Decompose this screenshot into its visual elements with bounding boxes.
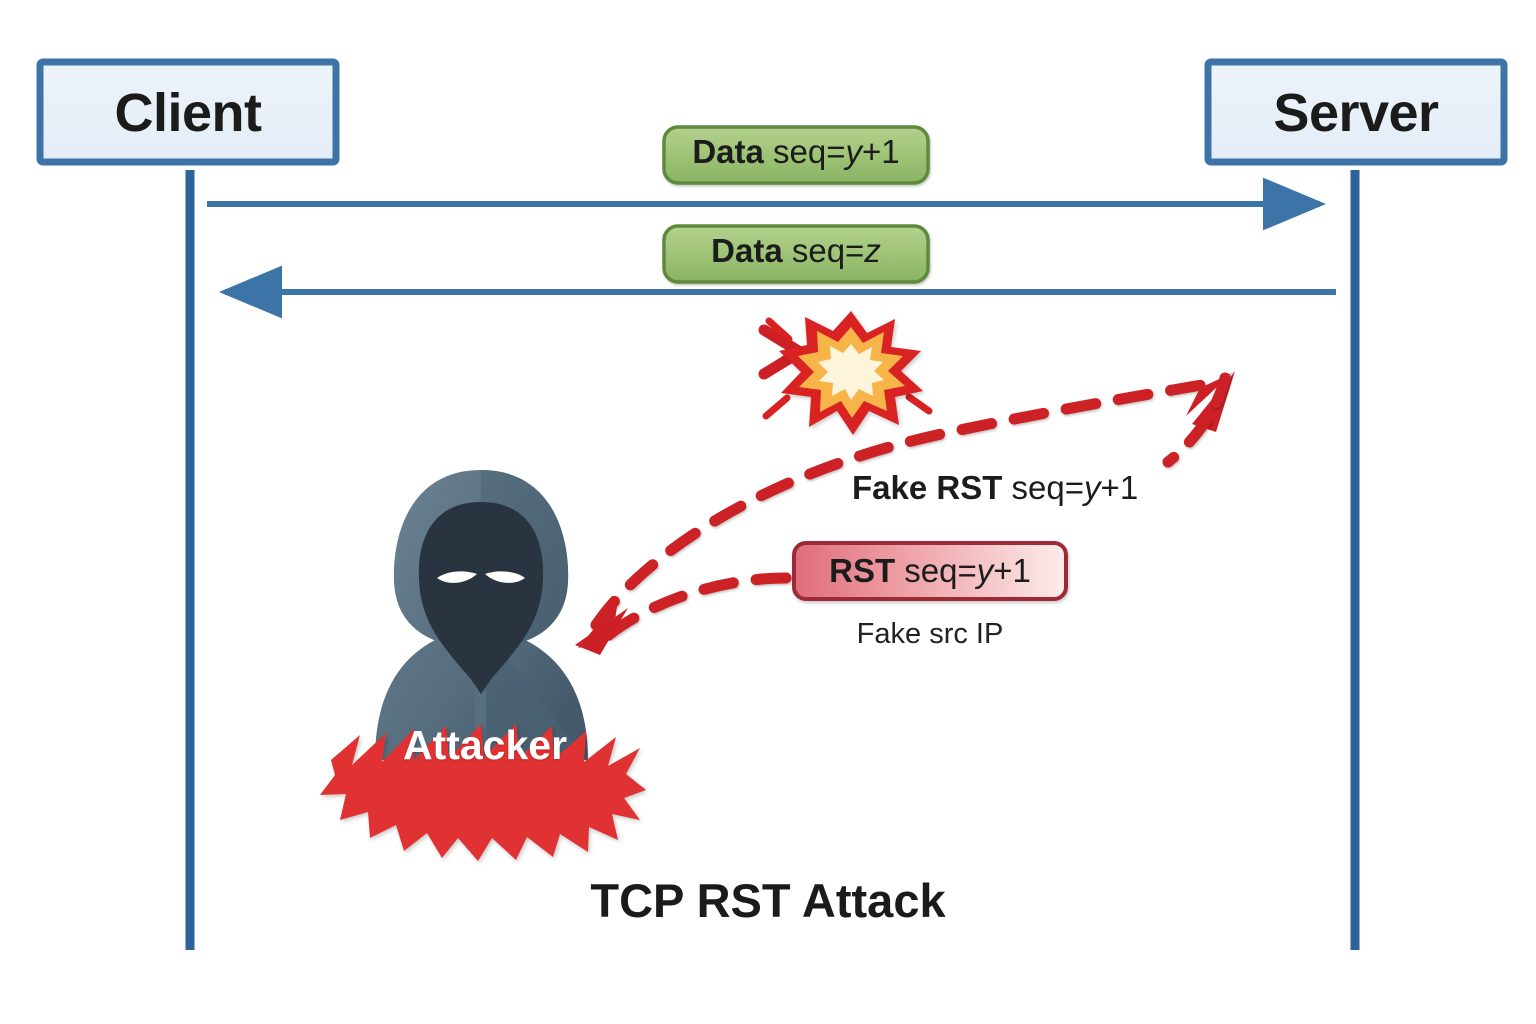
rst-bold: RST bbox=[829, 552, 895, 589]
data1-var: y bbox=[846, 133, 863, 170]
data1-suffix: +1 bbox=[862, 133, 900, 170]
broken-connection-dashed-line bbox=[208, 330, 1340, 374]
data1-bold: Data bbox=[692, 133, 764, 170]
fake-src-ip-label: Fake src IP bbox=[792, 618, 1068, 651]
lifelines bbox=[190, 170, 1355, 950]
hooded-attacker-icon bbox=[375, 470, 588, 760]
fake-rst-annotation: Fake RST seq=y+1 bbox=[852, 469, 1138, 507]
data1-prefix: seq= bbox=[764, 133, 846, 170]
explosion-burst-icon bbox=[766, 311, 929, 435]
spoof-arrow-from-rst-label bbox=[575, 578, 786, 655]
fake-rst-var: y bbox=[1084, 469, 1101, 506]
rst-prefix: seq= bbox=[895, 552, 977, 589]
fake-rst-bold: Fake RST bbox=[852, 469, 1002, 506]
attacker-badge-label: Attacker bbox=[340, 722, 630, 769]
server-node-label: Server bbox=[1208, 82, 1504, 144]
fake-rst-prefix: seq= bbox=[1002, 469, 1084, 506]
data2-var: z bbox=[864, 232, 881, 269]
fake-rst-suffix: +1 bbox=[1101, 469, 1139, 506]
data2-prefix: seq= bbox=[783, 232, 865, 269]
rst-suffix: +1 bbox=[993, 552, 1031, 589]
data2-pill-label: Data seq=z bbox=[664, 232, 928, 270]
data2-bold: Data bbox=[711, 232, 783, 269]
rst-var: y bbox=[977, 552, 994, 589]
client-node-label: Client bbox=[40, 82, 336, 144]
data1-pill-label: Data seq=y+1 bbox=[664, 133, 928, 171]
rst-pill-label: RST seq=y+1 bbox=[792, 552, 1068, 590]
diagram-canvas: Client Server Data seq=y+1 Data seq=z Fa… bbox=[0, 0, 1536, 1024]
diagram-title: TCP RST Attack bbox=[368, 873, 1168, 928]
